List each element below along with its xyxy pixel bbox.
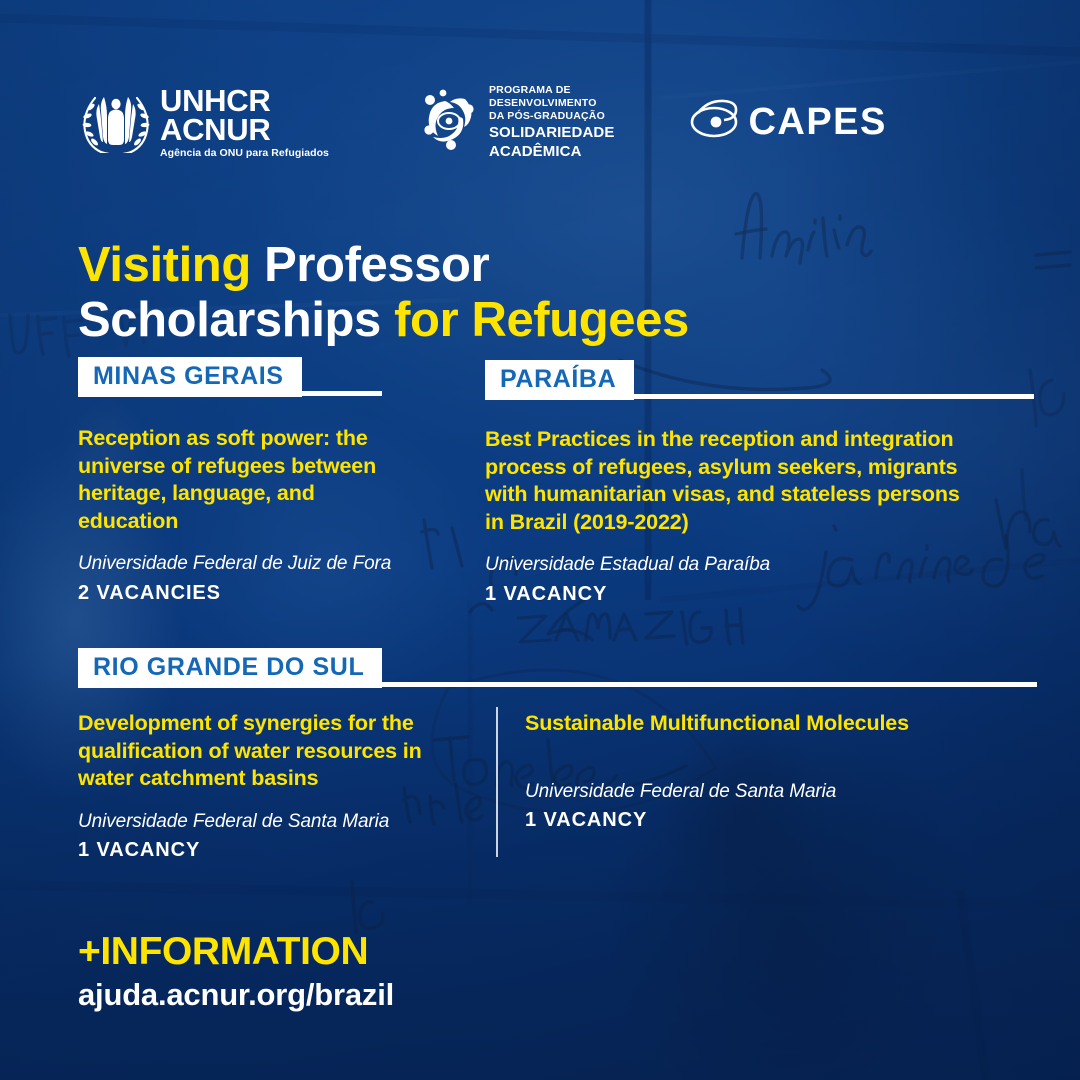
unhcr-label-line1: UNHCR [160, 86, 329, 115]
capes-label: CAPES [748, 101, 886, 144]
title-line2-rest: Scholarships [78, 293, 394, 347]
state-badge-label: PARAÍBA [485, 360, 634, 400]
entry-vacancies: 1 VACANCY [525, 809, 925, 832]
logo-row: UNHCR ACNUR Agência da ONU para Refugiad… [78, 84, 887, 160]
unhcr-logo: UNHCR ACNUR Agência da ONU para Refugiad… [78, 86, 329, 159]
state-badge-label: RIO GRANDE DO SUL [78, 648, 382, 688]
state-header-rio-grande-do-sul: RIO GRANDE DO SUL [78, 648, 1037, 688]
entry-vacancies: 2 VACANCIES [78, 582, 408, 605]
psga-line2: DESENVOLVIMENTO [489, 97, 614, 110]
capes-logo: CAPES [686, 97, 886, 148]
entry-divider [496, 707, 498, 857]
state-rule [302, 391, 382, 396]
solidariedade-academica-swirl-icon [421, 89, 479, 156]
entry-vacancies: 1 VACANCY [78, 839, 433, 862]
state-body-minas-gerais: Reception as soft power: the universe of… [78, 425, 408, 605]
title-line1-highlight: Visiting [78, 238, 264, 292]
psga-line4: SOLIDARIEDADE [489, 124, 614, 142]
entry-university: Universidade Federal de Santa Maria [525, 780, 925, 805]
page-title: Visiting Professor Scholarships for Refu… [78, 238, 689, 348]
capes-eye-icon [686, 97, 742, 148]
solidariedade-academica-logo: PROGRAMA DE DESENVOLVIMENTO DA PÓS-GRADU… [421, 84, 614, 160]
state-rule [634, 394, 1034, 399]
psga-line1: PROGRAMA DE [489, 84, 614, 97]
more-information-label: +INFORMATION [78, 932, 394, 973]
unhcr-hands-laurel-icon [78, 87, 154, 158]
psga-line5: ACADÊMICA [489, 143, 614, 161]
title-line1-rest: Professor [264, 238, 489, 292]
state-body-rio-grande-do-sul-entry-2: Sustainable Multifunctional Molecules Un… [525, 710, 925, 832]
psga-line3: DA PÓS-GRADUAÇÃO [489, 110, 614, 123]
entry-vacancies: 1 VACANCY [485, 583, 960, 606]
website-url[interactable]: ajuda.acnur.org/brazil [78, 978, 394, 1012]
entry-title: Reception as soft power: the universe of… [78, 425, 408, 535]
state-body-rio-grande-do-sul-entry-1: Development of synergies for the qualifi… [78, 710, 433, 862]
unhcr-label-line2: ACNUR [160, 115, 329, 144]
state-header-paraiba: PARAÍBA [485, 360, 1034, 400]
poster: UNHCR ACNUR Agência da ONU para Refugiad… [0, 0, 1080, 1080]
entry-title: Best Practices in the reception and inte… [485, 426, 960, 536]
title-line2-highlight: for Refugees [394, 293, 689, 347]
unhcr-tagline: Agência da ONU para Refugiados [160, 147, 329, 159]
state-badge-label: MINAS GERAIS [78, 357, 302, 397]
entry-university: Universidade Federal de Santa Maria [78, 810, 433, 835]
state-rule [382, 682, 1037, 687]
footer: +INFORMATION ajuda.acnur.org/brazil [78, 932, 394, 1012]
state-body-paraiba: Best Practices in the reception and inte… [485, 426, 960, 606]
entry-title: Development of synergies for the qualifi… [78, 710, 433, 793]
entry-university: Universidade Federal de Juiz de Fora [78, 552, 408, 577]
entry-university: Universidade Estadual da Paraíba [485, 553, 960, 578]
state-header-minas-gerais: MINAS GERAIS [78, 357, 382, 397]
entry-title: Sustainable Multifunctional Molecules [525, 710, 925, 738]
